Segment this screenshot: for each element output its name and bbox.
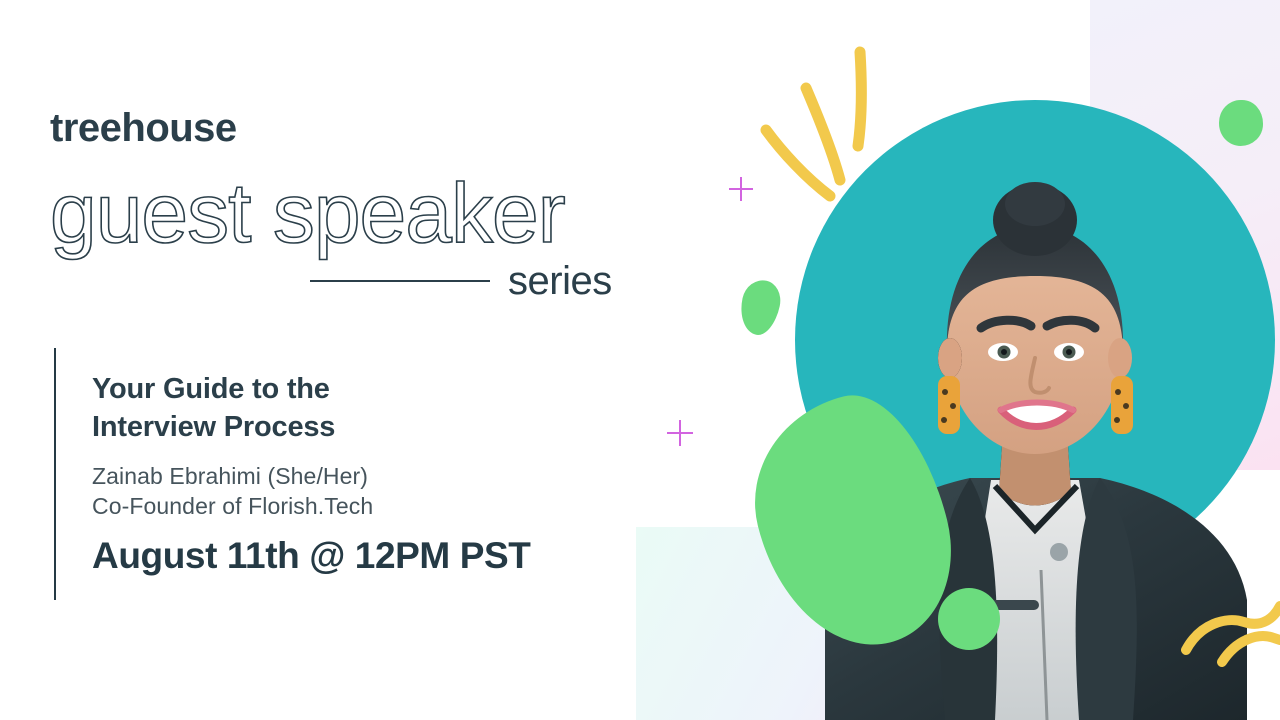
series-divider-rule (310, 280, 490, 282)
session-datetime: August 11th @ 12PM PST (92, 536, 530, 577)
talk-title-line-2: Interview Process (92, 408, 612, 446)
speaker-role: Co-Founder of Florish.Tech (92, 492, 373, 521)
promo-slide: treehouse guest speaker series Your Guid… (0, 0, 1280, 720)
headline-guest-speaker: guest speaker (46, 160, 686, 270)
plus-mark-upper-icon (729, 177, 753, 201)
green-blob-small-icon (938, 588, 1000, 650)
talk-title-line-1: Your Guide to the (92, 370, 612, 408)
speaker-name: Zainab Ebrahimi (She/Her) (92, 462, 368, 491)
vertical-accent-rule (54, 348, 56, 600)
green-blob-mid-icon (736, 277, 785, 339)
plus-mark-lower-icon (667, 420, 693, 446)
brand-wordmark: treehouse (50, 108, 237, 148)
talk-title: Your Guide to the Interview Process (92, 370, 612, 447)
svg-text:guest speaker: guest speaker (50, 166, 565, 260)
series-label: series (508, 261, 612, 301)
series-row: series (310, 258, 630, 304)
